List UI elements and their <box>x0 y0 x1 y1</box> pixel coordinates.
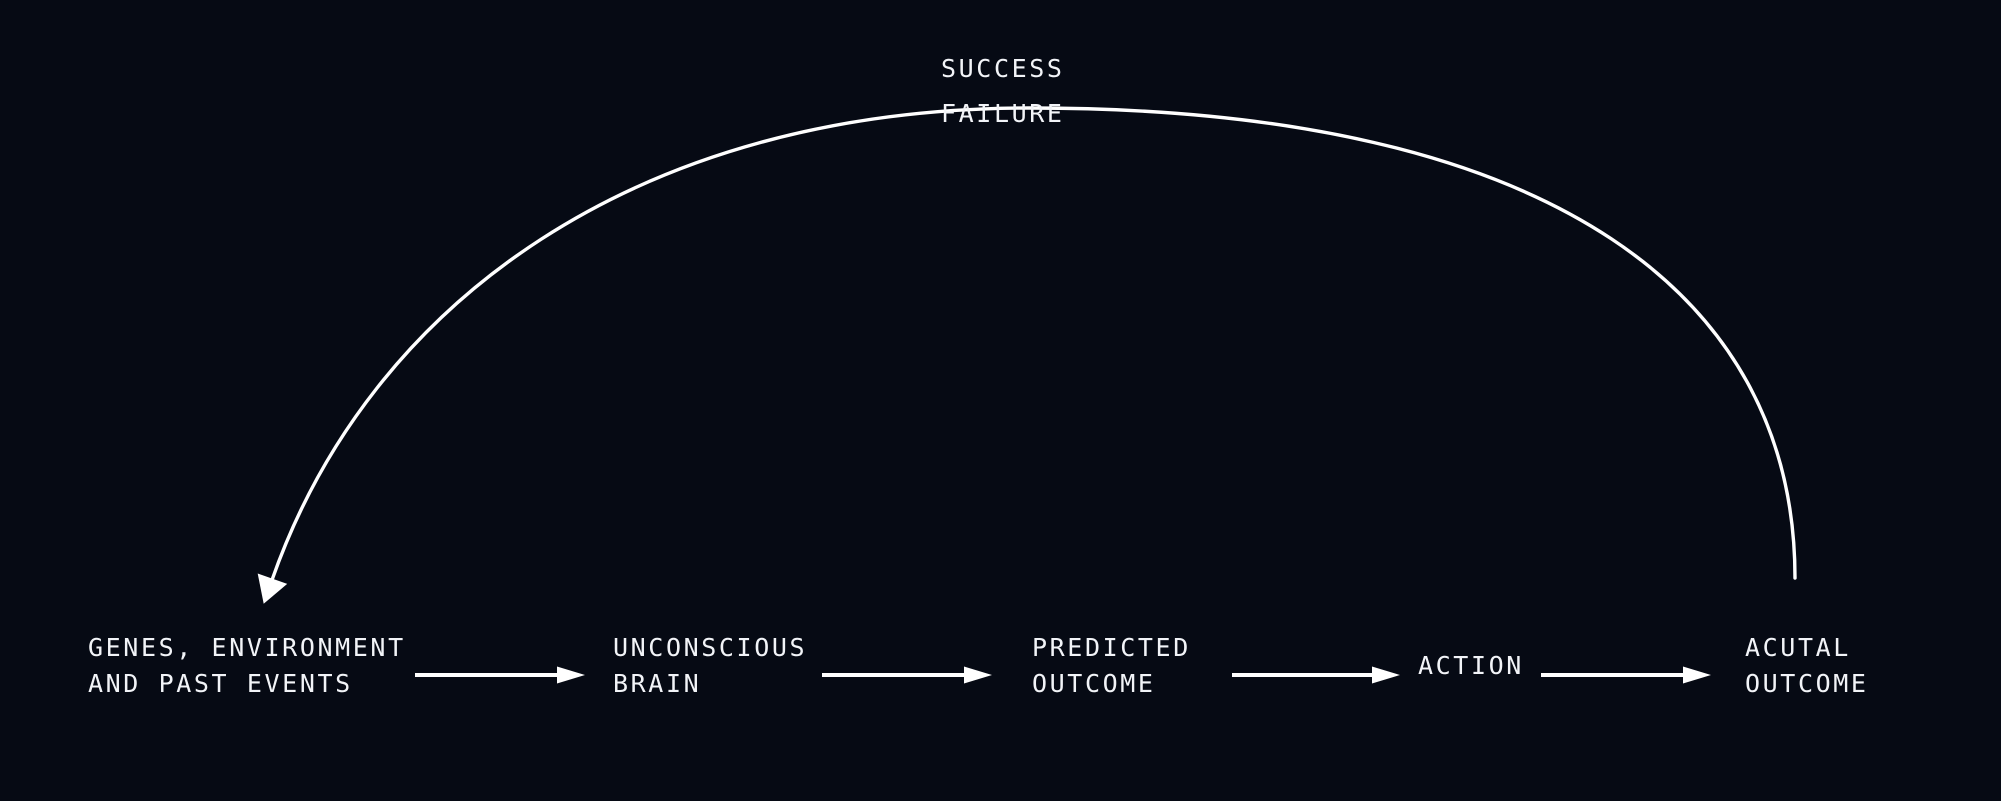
flow-arrow-genes-to-brain <box>415 664 585 686</box>
flow-arrow-action-to-acutal <box>1541 664 1711 686</box>
flow-arrow-predicted-to-action <box>1232 664 1400 686</box>
stage-acutal-outcome: ACUTAL OUTCOME <box>1745 630 1869 702</box>
stage-genes-line-1: GENES, ENVIRONMENT <box>88 630 406 666</box>
stage-unconscious-brain-line-1: UNCONSCIOUS <box>613 630 807 666</box>
stage-acutal-outcome-line-1: ACUTAL <box>1745 630 1869 666</box>
arc-label-success: SUCCESS <box>941 54 1065 83</box>
stage-genes: GENES, ENVIRONMENT AND PAST EVENTS <box>88 630 406 702</box>
stage-unconscious-brain-line-2: BRAIN <box>613 666 807 702</box>
stage-action-line-1: ACTION <box>1418 648 1524 684</box>
stage-predicted-outcome-line-2: OUTCOME <box>1032 666 1191 702</box>
stage-row: GENES, ENVIRONMENT AND PAST EVENTS UNCON… <box>0 612 2001 720</box>
stage-acutal-outcome-line-2: OUTCOME <box>1745 666 1869 702</box>
stage-predicted-outcome: PREDICTED OUTCOME <box>1032 630 1191 702</box>
flow-arrow-brain-to-predicted <box>822 664 992 686</box>
stage-unconscious-brain: UNCONSCIOUS BRAIN <box>613 630 807 702</box>
stage-predicted-outcome-line-1: PREDICTED <box>1032 630 1191 666</box>
feedback-arc-path <box>272 108 1795 580</box>
arc-label-failure: FAILURE <box>941 99 1065 128</box>
stage-genes-line-2: AND PAST EVENTS <box>88 666 406 702</box>
diagram-canvas: SUCCESS FAILURE GENES, ENVIRONMENT AND P… <box>0 0 2001 801</box>
stage-action: ACTION <box>1418 648 1524 684</box>
